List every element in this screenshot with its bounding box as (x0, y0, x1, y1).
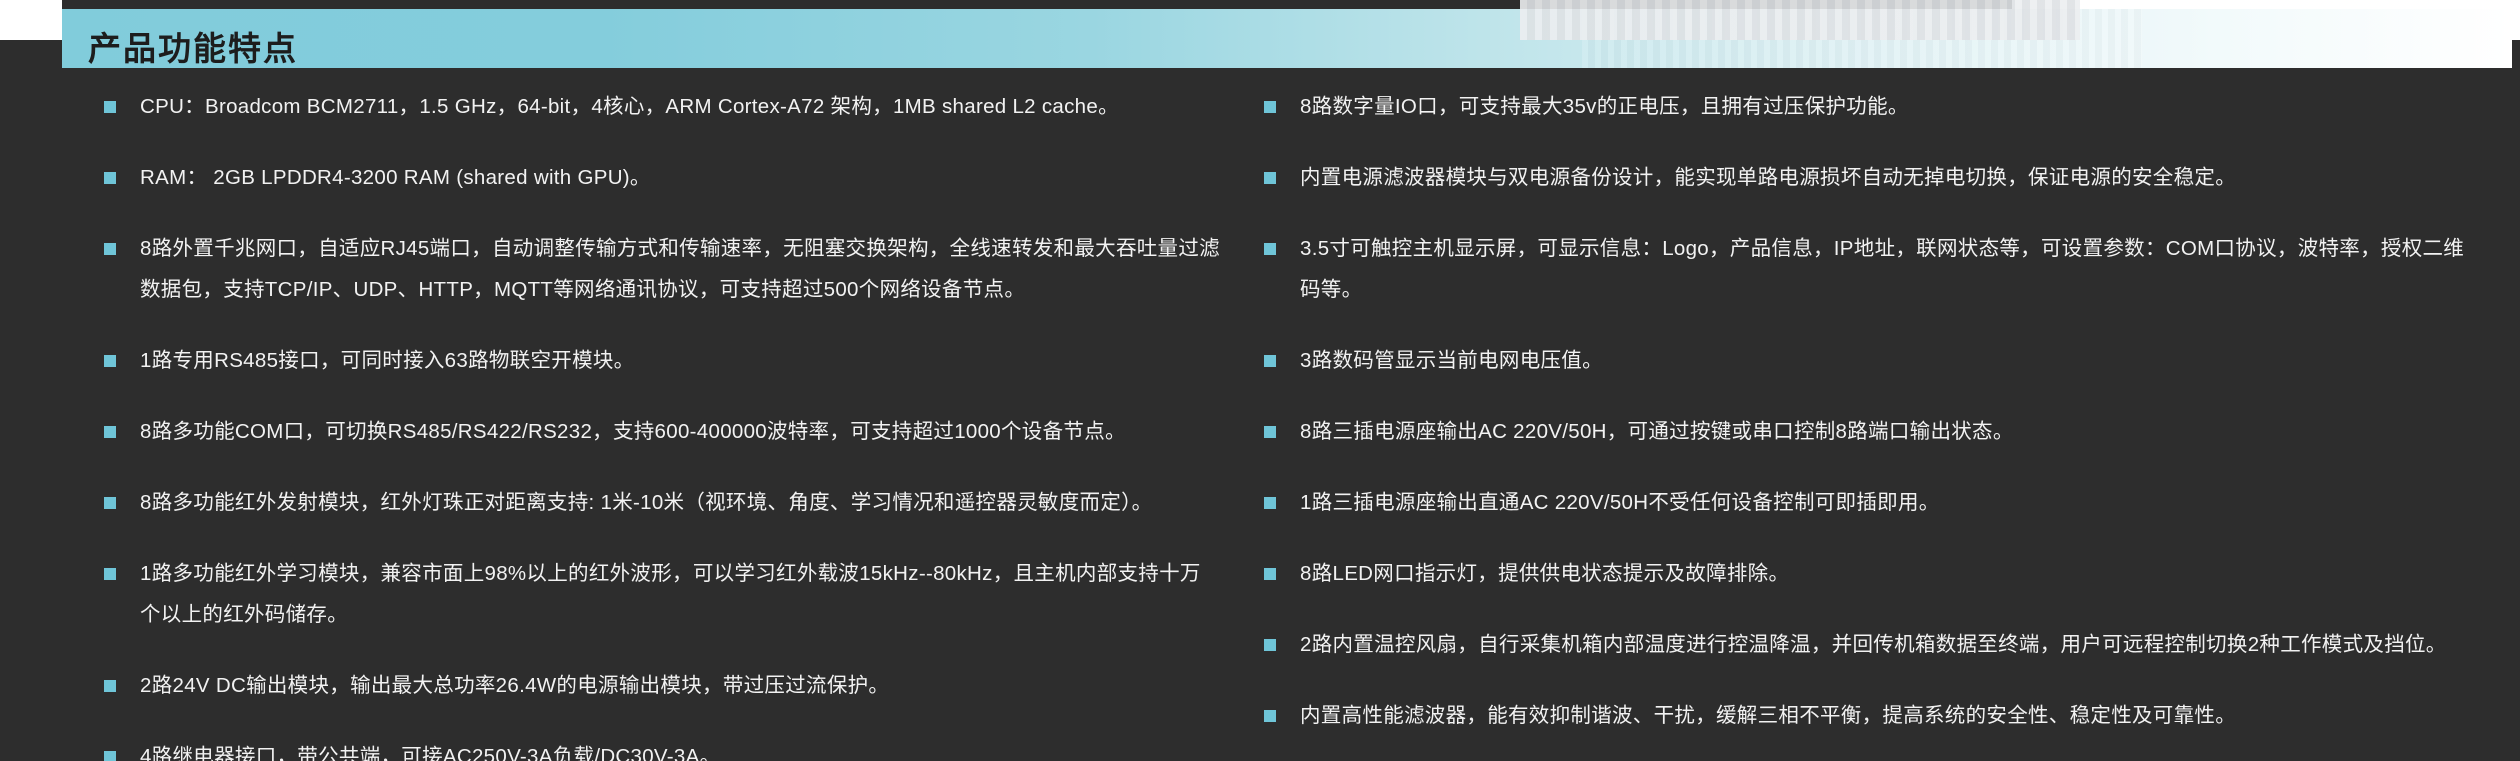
square-bullet-icon (1264, 101, 1276, 113)
list-item: 2路内置温控风扇，自行采集机箱内部温度进行控温降温，并回传机箱数据至终端，用户可… (1260, 624, 2480, 665)
left-feature-list: CPU：Broadcom BCM2711，1.5 GHz，64-bit，4核心，… (100, 86, 1220, 761)
list-item: 8路外置千兆网口，自适应RJ45端口，自动调整传输方式和传输速率，无阻塞交换架构… (100, 228, 1220, 310)
right-feature-list: 8路数字量IO口，可支持最大35v的正电压，且拥有过压保护功能。 内置电源滤波器… (1260, 86, 2480, 736)
square-bullet-icon (1264, 639, 1276, 651)
list-item: 8路三插电源座输出AC 220V/50H，可通过按键或串口控制8路端口输出状态。 (1260, 411, 2480, 452)
header-top-stripe-texture (1520, 0, 2080, 40)
list-item: 1路专用RS485接口，可同时接入63路物联空开模块。 (100, 340, 1220, 381)
list-item-text: 内置高性能滤波器，能有效抑制谐波、干扰，缓解三相不平衡，提高系统的安全性、稳定性… (1300, 704, 2236, 727)
square-bullet-icon (1264, 243, 1276, 255)
square-bullet-icon (104, 568, 116, 580)
square-bullet-icon (104, 243, 116, 255)
list-item: 4路继电器接口，带公共端，可接AC250V-3A负载/DC30V-3A。 (100, 736, 1220, 761)
list-item-text: RAM： 2GB LPDDR4-3200 RAM (shared with GP… (140, 166, 651, 189)
list-item: 3.5寸可触控主机显示屏，可显示信息：Logo，产品信息，IP地址，联网状态等，… (1260, 228, 2480, 310)
square-bullet-icon (104, 680, 116, 692)
list-item: 内置电源滤波器模块与双电源备份设计，能实现单路电源损坏自动无掉电切换，保证电源的… (1260, 157, 2480, 198)
square-bullet-icon (104, 101, 116, 113)
list-item: 3路数码管显示当前电网电压值。 (1260, 340, 2480, 381)
list-item: 8路数字量IO口，可支持最大35v的正电压，且拥有过压保护功能。 (1260, 86, 2480, 127)
left-column: CPU：Broadcom BCM2711，1.5 GHz，64-bit，4核心，… (0, 86, 1260, 761)
top-left-white-notch (0, 0, 62, 40)
square-bullet-icon (1264, 568, 1276, 580)
list-item-text: 8路数字量IO口，可支持最大35v的正电压，且拥有过压保护功能。 (1300, 95, 1909, 118)
section-header-band (62, 9, 2512, 68)
square-bullet-icon (1264, 710, 1276, 722)
list-item: 8路多功能COM口，可切换RS485/RS422/RS232，支持600-400… (100, 411, 1220, 452)
list-item: 1路三插电源座输出直通AC 220V/50H不受任何设备控制可即插即用。 (1260, 482, 2480, 523)
square-bullet-icon (104, 426, 116, 438)
list-item: CPU：Broadcom BCM2711，1.5 GHz，64-bit，4核心，… (100, 86, 1220, 127)
list-item: RAM： 2GB LPDDR4-3200 RAM (shared with GP… (100, 157, 1220, 198)
list-item-text: 2路24V DC输出模块，输出最大总功率26.4W的电源输出模块，带过压过流保护… (140, 674, 889, 697)
list-item-text: 8路多功能红外发射模块，红外灯珠正对距离支持: 1米-10米（视环境、角度、学习… (140, 491, 1152, 514)
list-item-text: 1路多功能红外学习模块，兼容市面上98%以上的红外波形，可以学习红外载波15kH… (140, 562, 1201, 626)
list-item: 8路多功能红外发射模块，红外灯珠正对距离支持: 1米-10米（视环境、角度、学习… (100, 482, 1220, 523)
square-bullet-icon (1264, 426, 1276, 438)
square-bullet-icon (1264, 355, 1276, 367)
list-item: 8路LED网口指示灯，提供供电状态提示及故障排除。 (1260, 553, 2480, 594)
square-bullet-icon (1264, 497, 1276, 509)
list-item-text: 1路专用RS485接口，可同时接入63路物联空开模块。 (140, 349, 634, 372)
slide-root: 产品功能特点 CPU：Broadcom BCM2711，1.5 GHz，64-b… (0, 0, 2520, 761)
list-item-text: 3.5寸可触控主机显示屏，可显示信息：Logo，产品信息，IP地址，联网状态等，… (1300, 237, 2464, 301)
list-item: 1路多功能红外学习模块，兼容市面上98%以上的红外波形，可以学习红外载波15kH… (100, 553, 1220, 635)
square-bullet-icon (104, 172, 116, 184)
list-item-text: 4路继电器接口，带公共端，可接AC250V-3A负载/DC30V-3A。 (140, 745, 720, 761)
square-bullet-icon (104, 751, 116, 761)
list-item-text: 3路数码管显示当前电网电压值。 (1300, 349, 1603, 372)
list-item-text: 内置电源滤波器模块与双电源备份设计，能实现单路电源损坏自动无掉电切换，保证电源的… (1300, 166, 2236, 189)
list-item-text: CPU：Broadcom BCM2711，1.5 GHz，64-bit，4核心，… (140, 95, 1119, 118)
feature-columns: CPU：Broadcom BCM2711，1.5 GHz，64-bit，4核心，… (0, 86, 2520, 761)
list-item-text: 8路LED网口指示灯，提供供电状态提示及故障排除。 (1300, 562, 1789, 585)
list-item: 2路24V DC输出模块，输出最大总功率26.4W的电源输出模块，带过压过流保护… (100, 665, 1220, 706)
square-bullet-icon (1264, 172, 1276, 184)
list-item-text: 8路三插电源座输出AC 220V/50H，可通过按键或串口控制8路端口输出状态。 (1300, 420, 2014, 443)
list-item-text: 8路多功能COM口，可切换RS485/RS422/RS232，支持600-400… (140, 420, 1126, 443)
list-item-text: 2路内置温控风扇，自行采集机箱内部温度进行控温降温，并回传机箱数据至终端，用户可… (1300, 633, 2447, 656)
list-item: 内置高性能滤波器，能有效抑制谐波、干扰，缓解三相不平衡，提高系统的安全性、稳定性… (1260, 695, 2480, 736)
page-title: 产品功能特点 (88, 22, 298, 70)
right-column: 8路数字量IO口，可支持最大35v的正电压，且拥有过压保护功能。 内置电源滤波器… (1260, 86, 2520, 761)
list-item-text: 1路三插电源座输出直通AC 220V/50H不受任何设备控制可即插即用。 (1300, 491, 1940, 514)
square-bullet-icon (104, 497, 116, 509)
square-bullet-icon (104, 355, 116, 367)
list-item-text: 8路外置千兆网口，自适应RJ45端口，自动调整传输方式和传输速率，无阻塞交换架构… (140, 237, 1220, 301)
